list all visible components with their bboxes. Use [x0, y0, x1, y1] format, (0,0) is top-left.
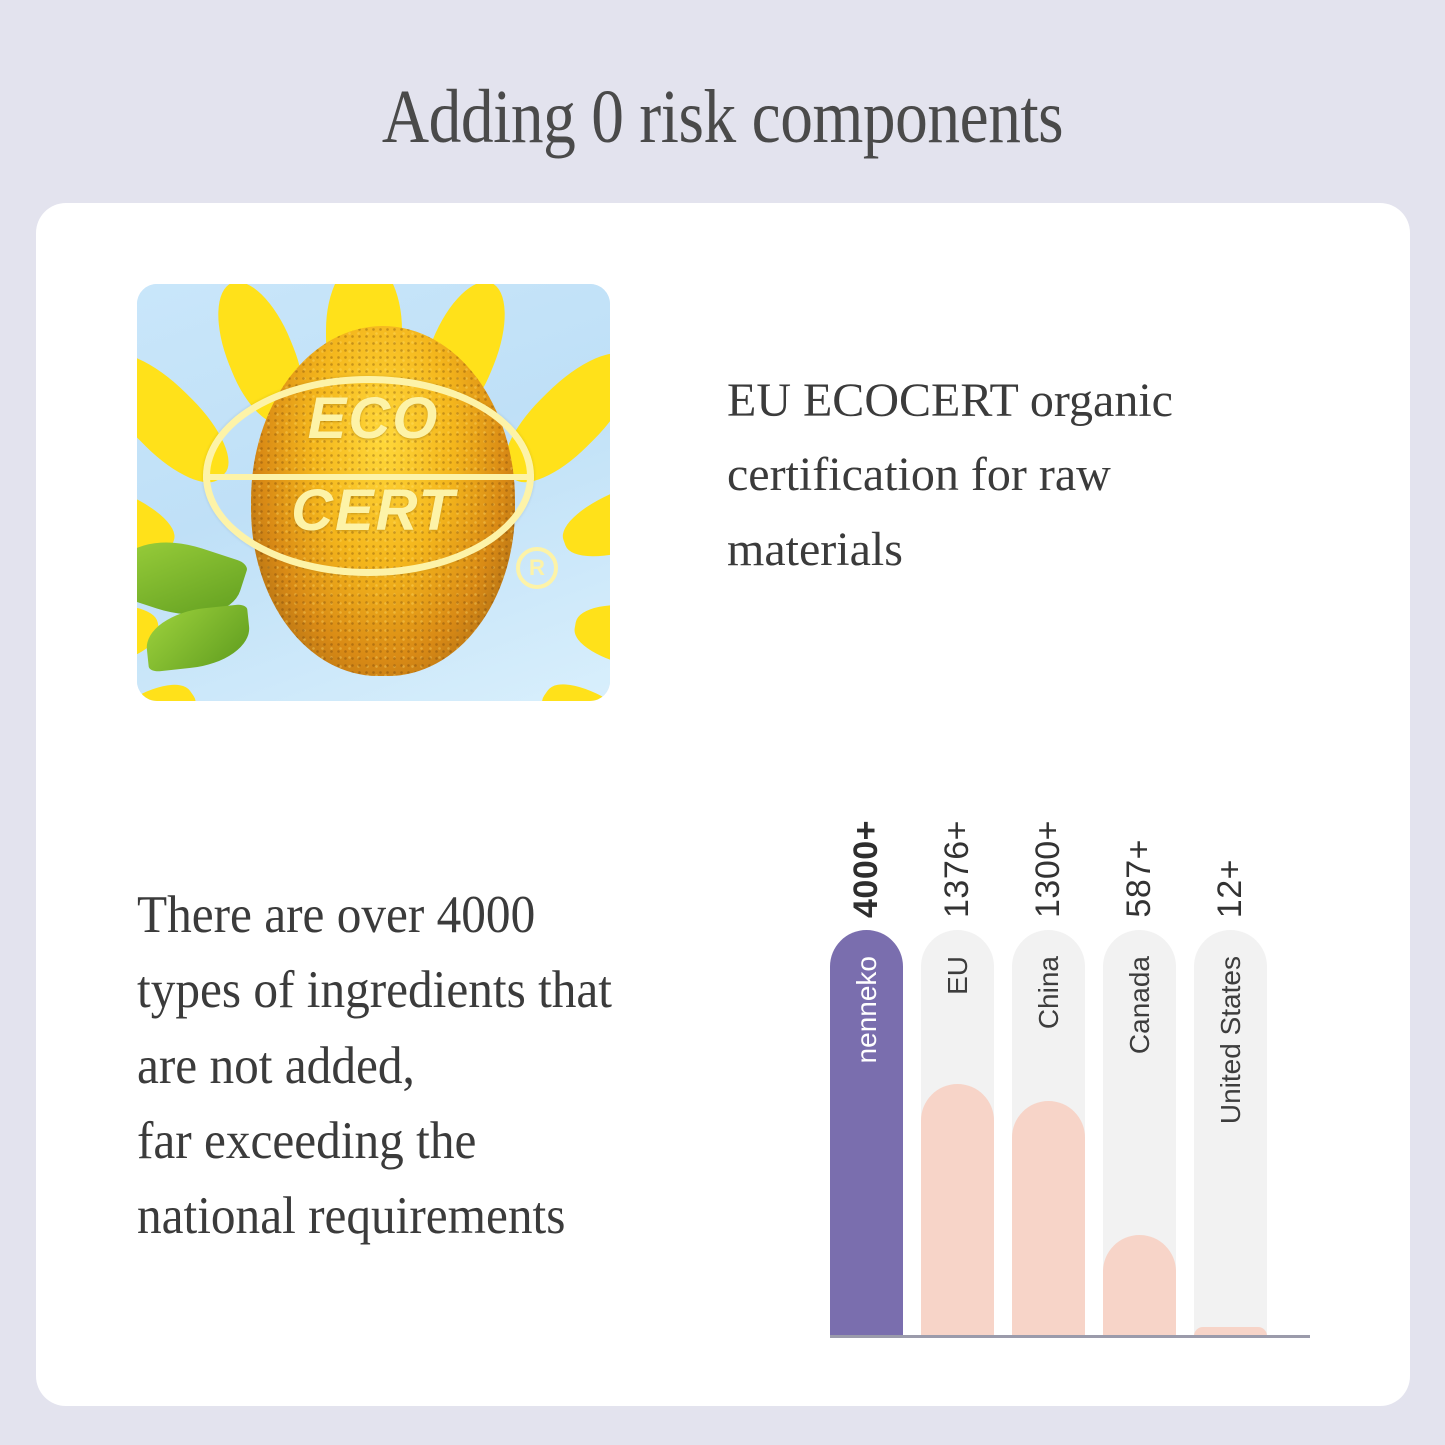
bar-category-label: EU [921, 956, 994, 995]
claim-paragraph: There are over 4000 types of ingredients… [137, 878, 797, 1254]
bar-value-text: 587+ [1120, 839, 1159, 918]
bar-category-text: Canada [1124, 956, 1156, 1054]
bar-category-text: nenneko [851, 956, 883, 1063]
bar-fill [1103, 1235, 1176, 1337]
certification-caption: EU ECOCERT organic certification for raw… [727, 364, 1297, 587]
bar-value-text: 12+ [1211, 859, 1250, 918]
ecocert-wordmark-cert: CERT [137, 482, 610, 540]
bar-fill [921, 1084, 994, 1336]
bar-track: nenneko [830, 930, 903, 1336]
bar-category-text: United States [1215, 956, 1247, 1124]
bar-category-label: United States [1194, 956, 1267, 1124]
bar-value-label: 1376+ [921, 788, 994, 918]
claim-line-4: far exceeding the [137, 1104, 751, 1179]
bar-value-label: 1300+ [1012, 788, 1085, 918]
bar-value-label: 587+ [1103, 788, 1176, 918]
ecocert-sunflower-logo: ECO CERT R [137, 284, 610, 701]
bar-column-canada: 587+ Canada [1103, 930, 1176, 1336]
registered-trademark-icon: R [516, 547, 558, 589]
chart-plot-area: 4000+ nenneko 1376+ EU [830, 930, 1310, 1336]
bar-value-text: 1300+ [1029, 820, 1068, 918]
bar-category-label: Canada [1103, 956, 1176, 1054]
claim-line-5: national requirements [137, 1179, 751, 1254]
claim-line-3: are not added, [137, 1029, 751, 1104]
chart-baseline-axis [830, 1335, 1310, 1338]
bar-track: United States [1194, 930, 1267, 1336]
bar-value-label: 4000+ [830, 788, 903, 918]
bar-value-text: 1376+ [938, 820, 977, 918]
bar-column-china: 1300+ China [1012, 930, 1085, 1336]
claim-line-1: There are over 4000 [137, 878, 751, 953]
bar-category-text: China [1033, 956, 1065, 1029]
bar-category-label: China [1012, 956, 1085, 1029]
bar-value-label: 12+ [1194, 788, 1267, 918]
bar-track: EU [921, 930, 994, 1336]
bar-category-text: EU [942, 956, 974, 995]
ingredient-comparison-bar-chart: 4000+ nenneko 1376+ EU [830, 788, 1310, 1358]
bar-column-eu: 1376+ EU [921, 930, 994, 1336]
bar-column-united-states: 12+ United States [1194, 930, 1267, 1336]
page-title: Adding 0 risk components [101, 74, 1344, 161]
content-card: ECO CERT R EU ECOCERT organic certificat… [36, 203, 1410, 1406]
claim-line-2: types of ingredients that [137, 953, 751, 1028]
bar-category-label: nenneko [830, 956, 903, 1063]
bar-fill [1012, 1101, 1085, 1336]
bar-column-nenneko: 4000+ nenneko [830, 930, 903, 1336]
bar-track: Canada [1103, 930, 1176, 1336]
bar-value-text: 4000+ [847, 820, 886, 918]
page-root: Adding 0 risk components [0, 0, 1445, 1445]
ecocert-wordmark-eco: ECO [137, 390, 610, 448]
bar-track: China [1012, 930, 1085, 1336]
